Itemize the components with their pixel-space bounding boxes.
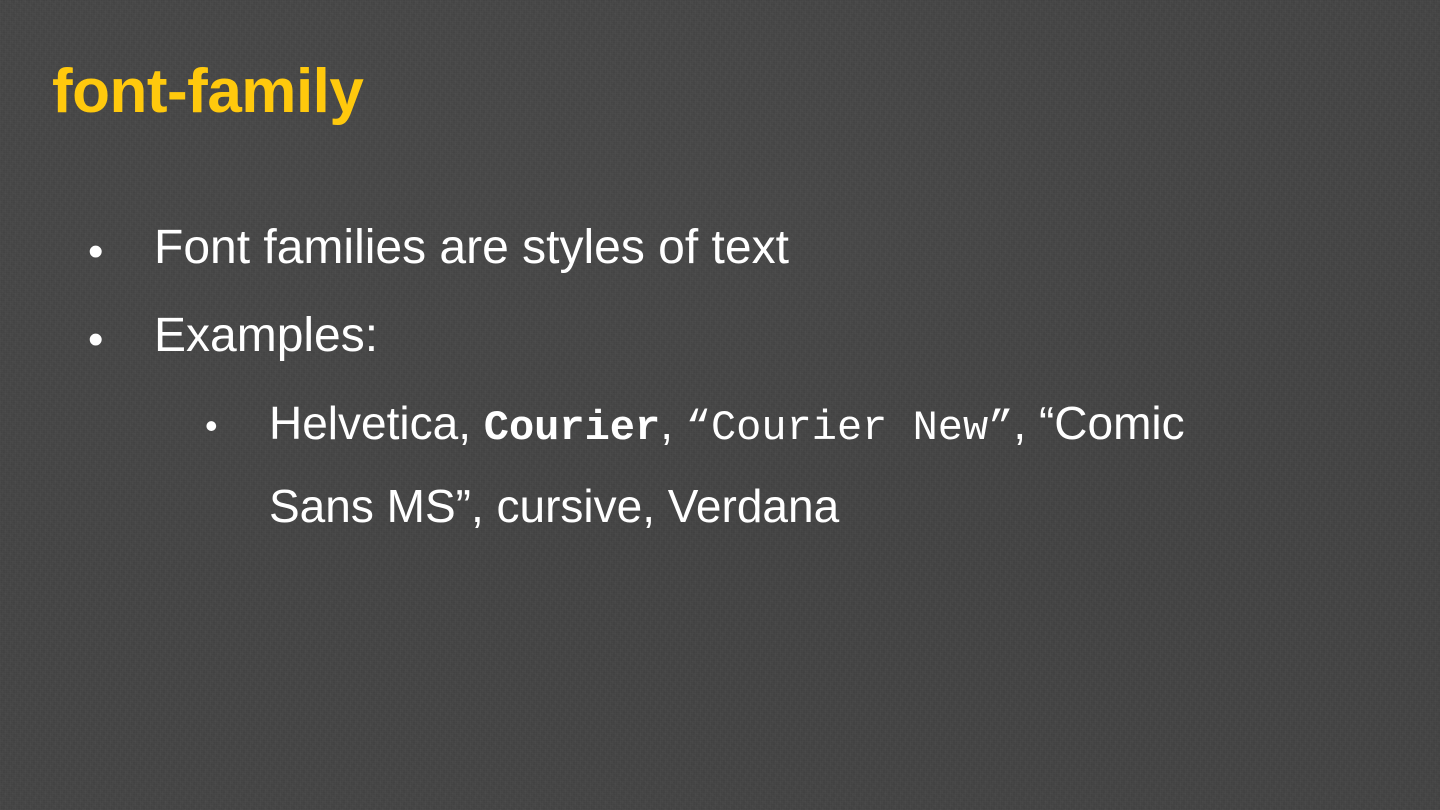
- example-separator-1: ,: [660, 397, 686, 449]
- example-courier: Courier: [484, 404, 660, 452]
- example-courier-new: “Courier New”: [686, 404, 1014, 452]
- list-item-label: Examples:: [154, 292, 378, 380]
- sub-list-item: • Helvetica, Courier, “Courier New”, “Co…: [0, 402, 1440, 545]
- bullet-icon: •: [205, 408, 269, 444]
- page-title: font-family: [52, 61, 363, 123]
- list-item-label: Font families are styles of text: [154, 204, 789, 292]
- bullet-icon: •: [88, 318, 154, 362]
- presentation-slide: font-family • Font families are styles o…: [0, 0, 1440, 810]
- example-helvetica: Helvetica,: [269, 397, 484, 449]
- font-examples-label: Helvetica, Courier, “Courier New”, “Comi…: [269, 384, 1279, 545]
- example-separator-2: ,: [1013, 397, 1039, 449]
- bullet-icon: •: [88, 230, 154, 274]
- slide-body: • Font families are styles of text • Exa…: [0, 226, 1440, 545]
